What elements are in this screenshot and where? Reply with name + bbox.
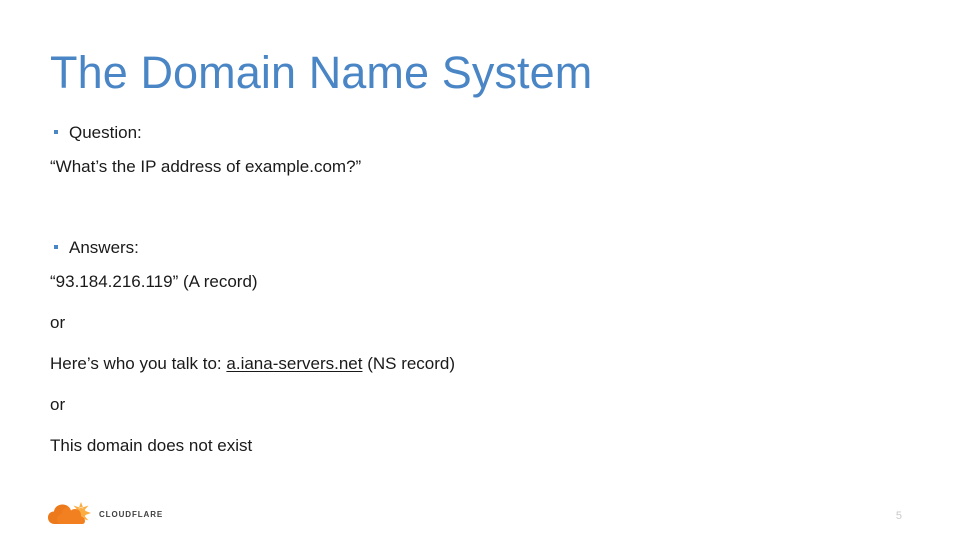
bullet-dot-icon bbox=[54, 245, 58, 249]
bullet-dot-icon bbox=[54, 130, 58, 134]
answer-separator-or-2: or bbox=[50, 394, 910, 435]
slide-body: Question: “What’s the IP address of exam… bbox=[50, 122, 910, 476]
slide: The Domain Name System Question: “What’s… bbox=[0, 0, 960, 540]
bullet-label-answers: Answers: bbox=[69, 237, 139, 259]
question-text: “What’s the IP address of example.com?” bbox=[50, 156, 910, 197]
answer-nxdomain: This domain does not exist bbox=[50, 435, 910, 476]
answer-a-record: “93.184.216.119” (A record) bbox=[50, 271, 910, 312]
page-number: 5 bbox=[896, 510, 902, 522]
bullet-item-answers: Answers: bbox=[50, 237, 910, 271]
ns-record-hostname-link[interactable]: a.iana-servers.net bbox=[226, 354, 362, 373]
bullet-label-question: Question: bbox=[69, 122, 142, 144]
page-title: The Domain Name System bbox=[50, 44, 592, 102]
ns-record-suffix: (NS record) bbox=[362, 354, 455, 373]
answer-ns-record: Here’s who you talk to: a.iana-servers.n… bbox=[50, 353, 910, 394]
cloudflare-cloud-icon bbox=[48, 501, 92, 527]
bullet-item-question: Question: bbox=[50, 122, 910, 156]
ns-record-prefix: Here’s who you talk to: bbox=[50, 354, 226, 373]
footer-logo: Cloudflare bbox=[48, 501, 163, 527]
content-spacer bbox=[50, 197, 910, 237]
cloudflare-wordmark: Cloudflare bbox=[99, 508, 163, 520]
answer-separator-or-1: or bbox=[50, 312, 910, 353]
